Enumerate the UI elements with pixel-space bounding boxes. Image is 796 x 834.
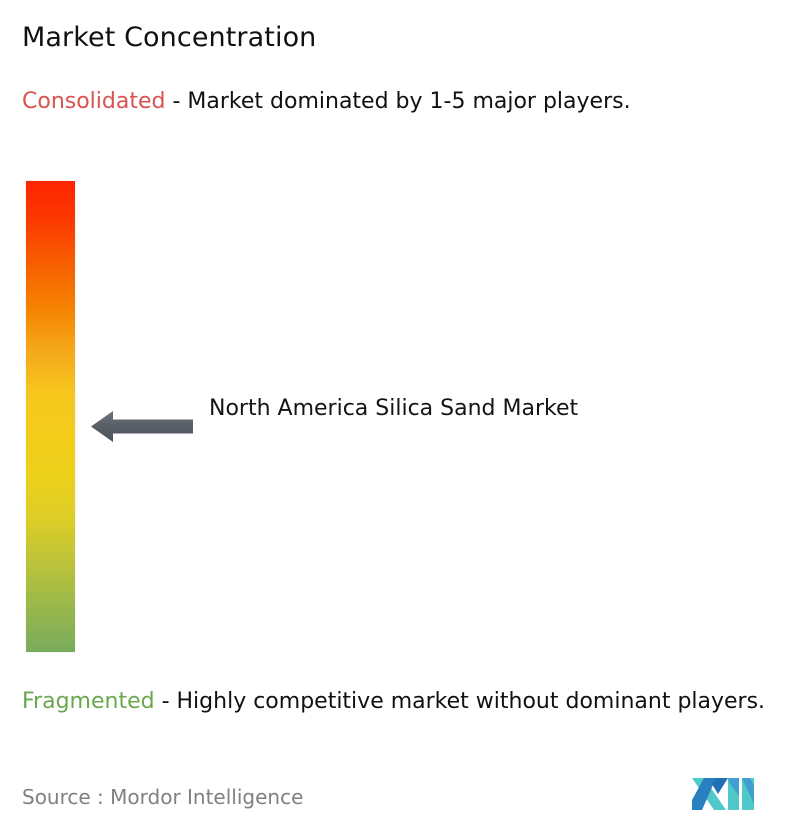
- market-concentration-infographic: Market Concentration Consolidated - Mark…: [0, 0, 796, 834]
- pointer-label: North America Silica Sand Market: [209, 392, 629, 425]
- concentration-gradient-bar: [26, 181, 75, 652]
- legend-term-consolidated: Consolidated: [22, 89, 165, 114]
- legend-term-fragmented: Fragmented: [22, 689, 155, 714]
- mordor-intelligence-logo: [692, 772, 758, 810]
- legend-description-consolidated: - Market dominated by 1-5 major players.: [165, 89, 630, 114]
- page-title: Market Concentration: [22, 21, 316, 55]
- legend-description-fragmented: - Highly competitive market without domi…: [155, 689, 765, 714]
- legend-fragmented: Fragmented - Highly competitive market w…: [22, 686, 782, 717]
- left-arrow-icon: [91, 408, 193, 445]
- source-attribution: Source : Mordor Intelligence: [22, 784, 303, 810]
- mi-monogram-icon: [692, 772, 758, 810]
- legend-consolidated: Consolidated - Market dominated by 1-5 m…: [22, 86, 774, 117]
- pointer-arrow: [91, 408, 193, 445]
